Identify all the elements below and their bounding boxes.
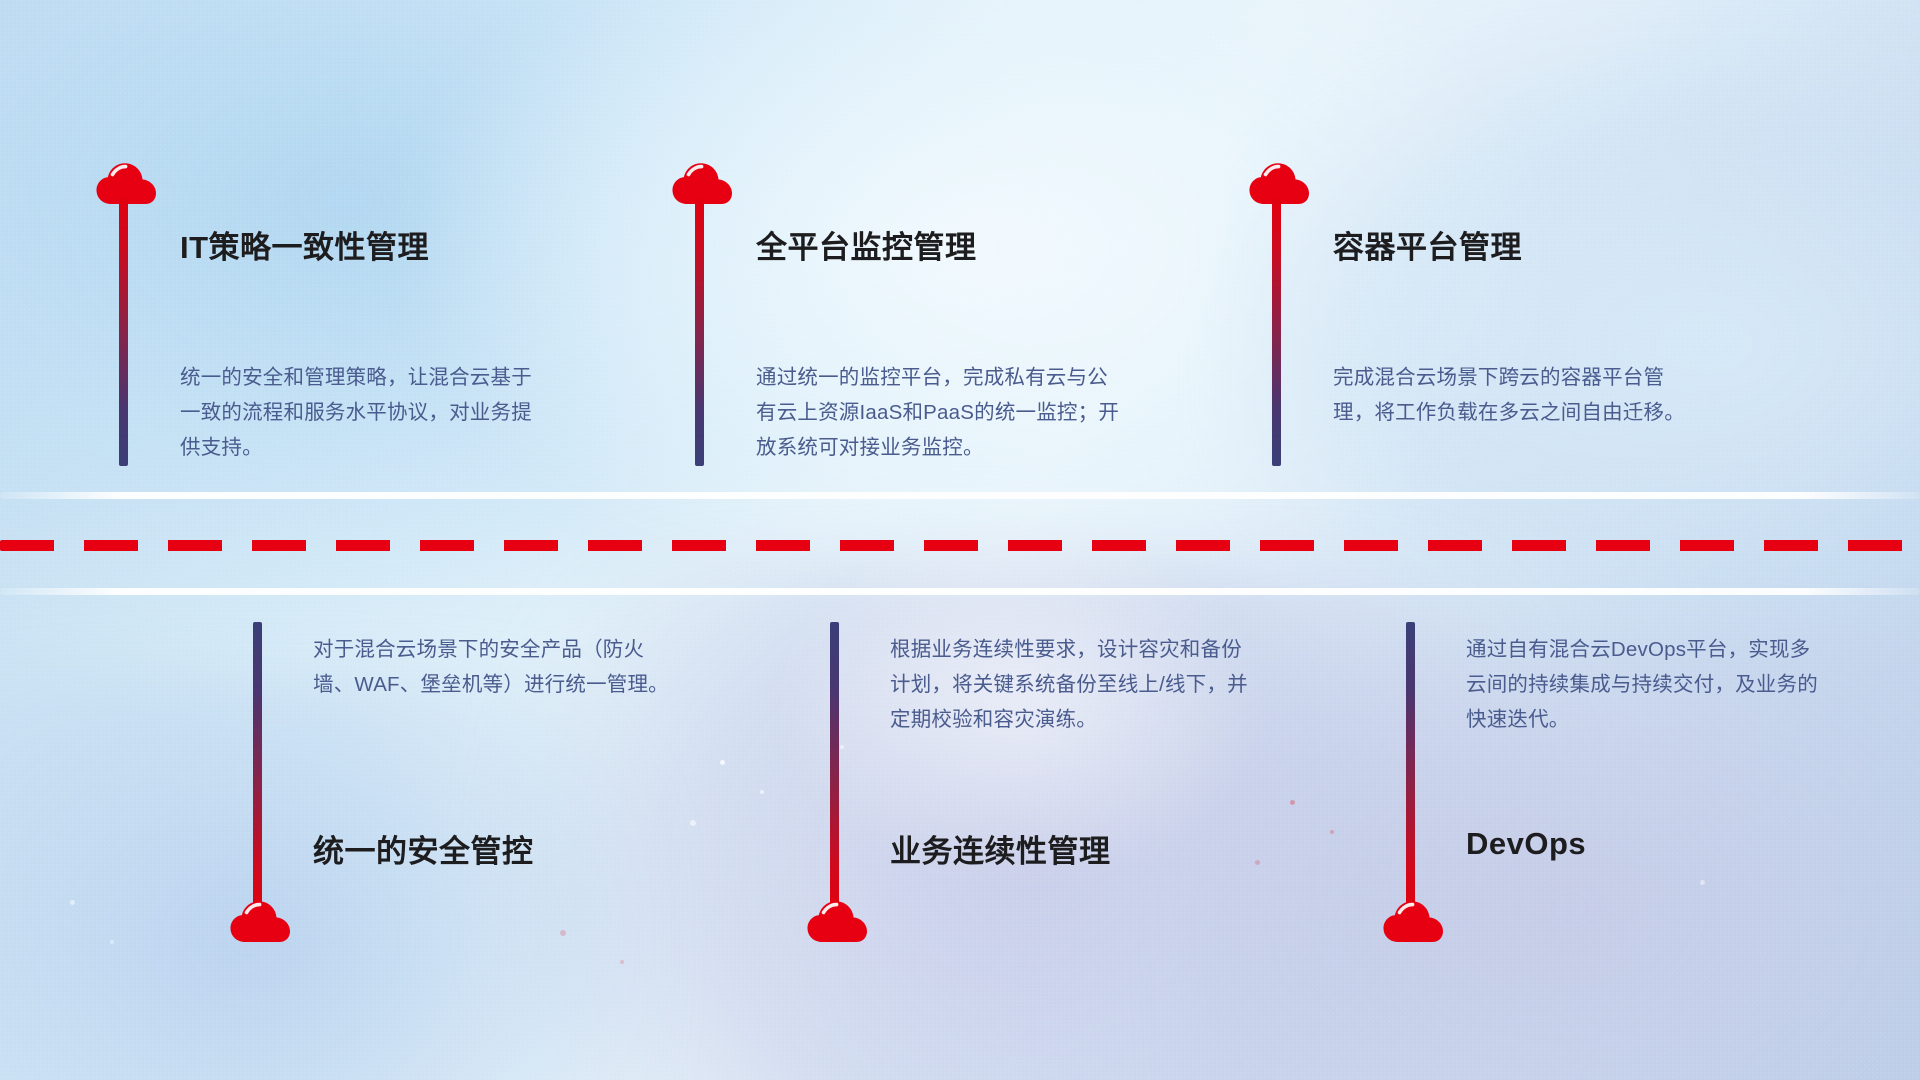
connector-line <box>1272 198 1281 466</box>
card-body: 通过统一的监控平台，完成私有云与公有云上资源IaaS和PaaS的统一监控；开放系… <box>756 360 1128 465</box>
cloud-icon <box>806 898 870 944</box>
connector-line <box>253 622 262 912</box>
card-body: 根据业务连续性要求，设计容灾和备份计划，将关键系统备份至线上/线下，并定期校验和… <box>890 632 1250 737</box>
card-body: 对于混合云场景下的安全产品（防火墙、WAF、堡垒机等）进行统一管理。 <box>313 632 673 702</box>
connector-line <box>830 622 839 912</box>
bokeh-dot <box>560 930 566 936</box>
card-body: 统一的安全和管理策略，让混合云基于一致的流程和服务水平协议，对业务提供支持。 <box>180 360 540 465</box>
card-title: 业务连续性管理 <box>890 826 1111 871</box>
cloud-icon <box>229 898 293 944</box>
connector-line <box>119 198 128 466</box>
divider-rule-top <box>0 492 1920 499</box>
card-body: 完成混合云场景下跨云的容器平台管理，将工作负载在多云之间自由迁移。 <box>1333 360 1705 430</box>
infographic-canvas: IT策略一致性管理 统一的安全和管理策略，让混合云基于一致的流程和服务水平协议，… <box>0 0 1920 1080</box>
card-title: DevOps <box>1466 826 1586 862</box>
bokeh-dot <box>1290 800 1295 805</box>
cloud-icon <box>1382 898 1446 944</box>
connector-line <box>1406 622 1415 912</box>
bokeh-dot <box>690 820 696 826</box>
card-title: 全平台监控管理 <box>756 222 977 267</box>
divider-dashed-line <box>0 540 1920 551</box>
connector-line <box>695 198 704 466</box>
bokeh-dot <box>1255 860 1260 865</box>
divider-rule-bottom <box>0 588 1920 595</box>
card-title: IT策略一致性管理 <box>180 222 429 267</box>
bokeh-dot <box>110 940 114 944</box>
bokeh-dot <box>720 760 725 765</box>
bokeh-dot <box>760 790 764 794</box>
card-title: 统一的安全管控 <box>313 826 534 871</box>
bokeh-dot <box>1700 880 1705 885</box>
card-title: 容器平台管理 <box>1333 222 1522 267</box>
card-body: 通过自有混合云DevOps平台，实现多云间的持续集成与持续交付，及业务的快速迭代… <box>1466 632 1826 737</box>
bokeh-dot <box>70 900 75 905</box>
bokeh-dot <box>620 960 624 964</box>
bokeh-dot <box>1330 830 1334 834</box>
bokeh-dot <box>840 745 844 749</box>
